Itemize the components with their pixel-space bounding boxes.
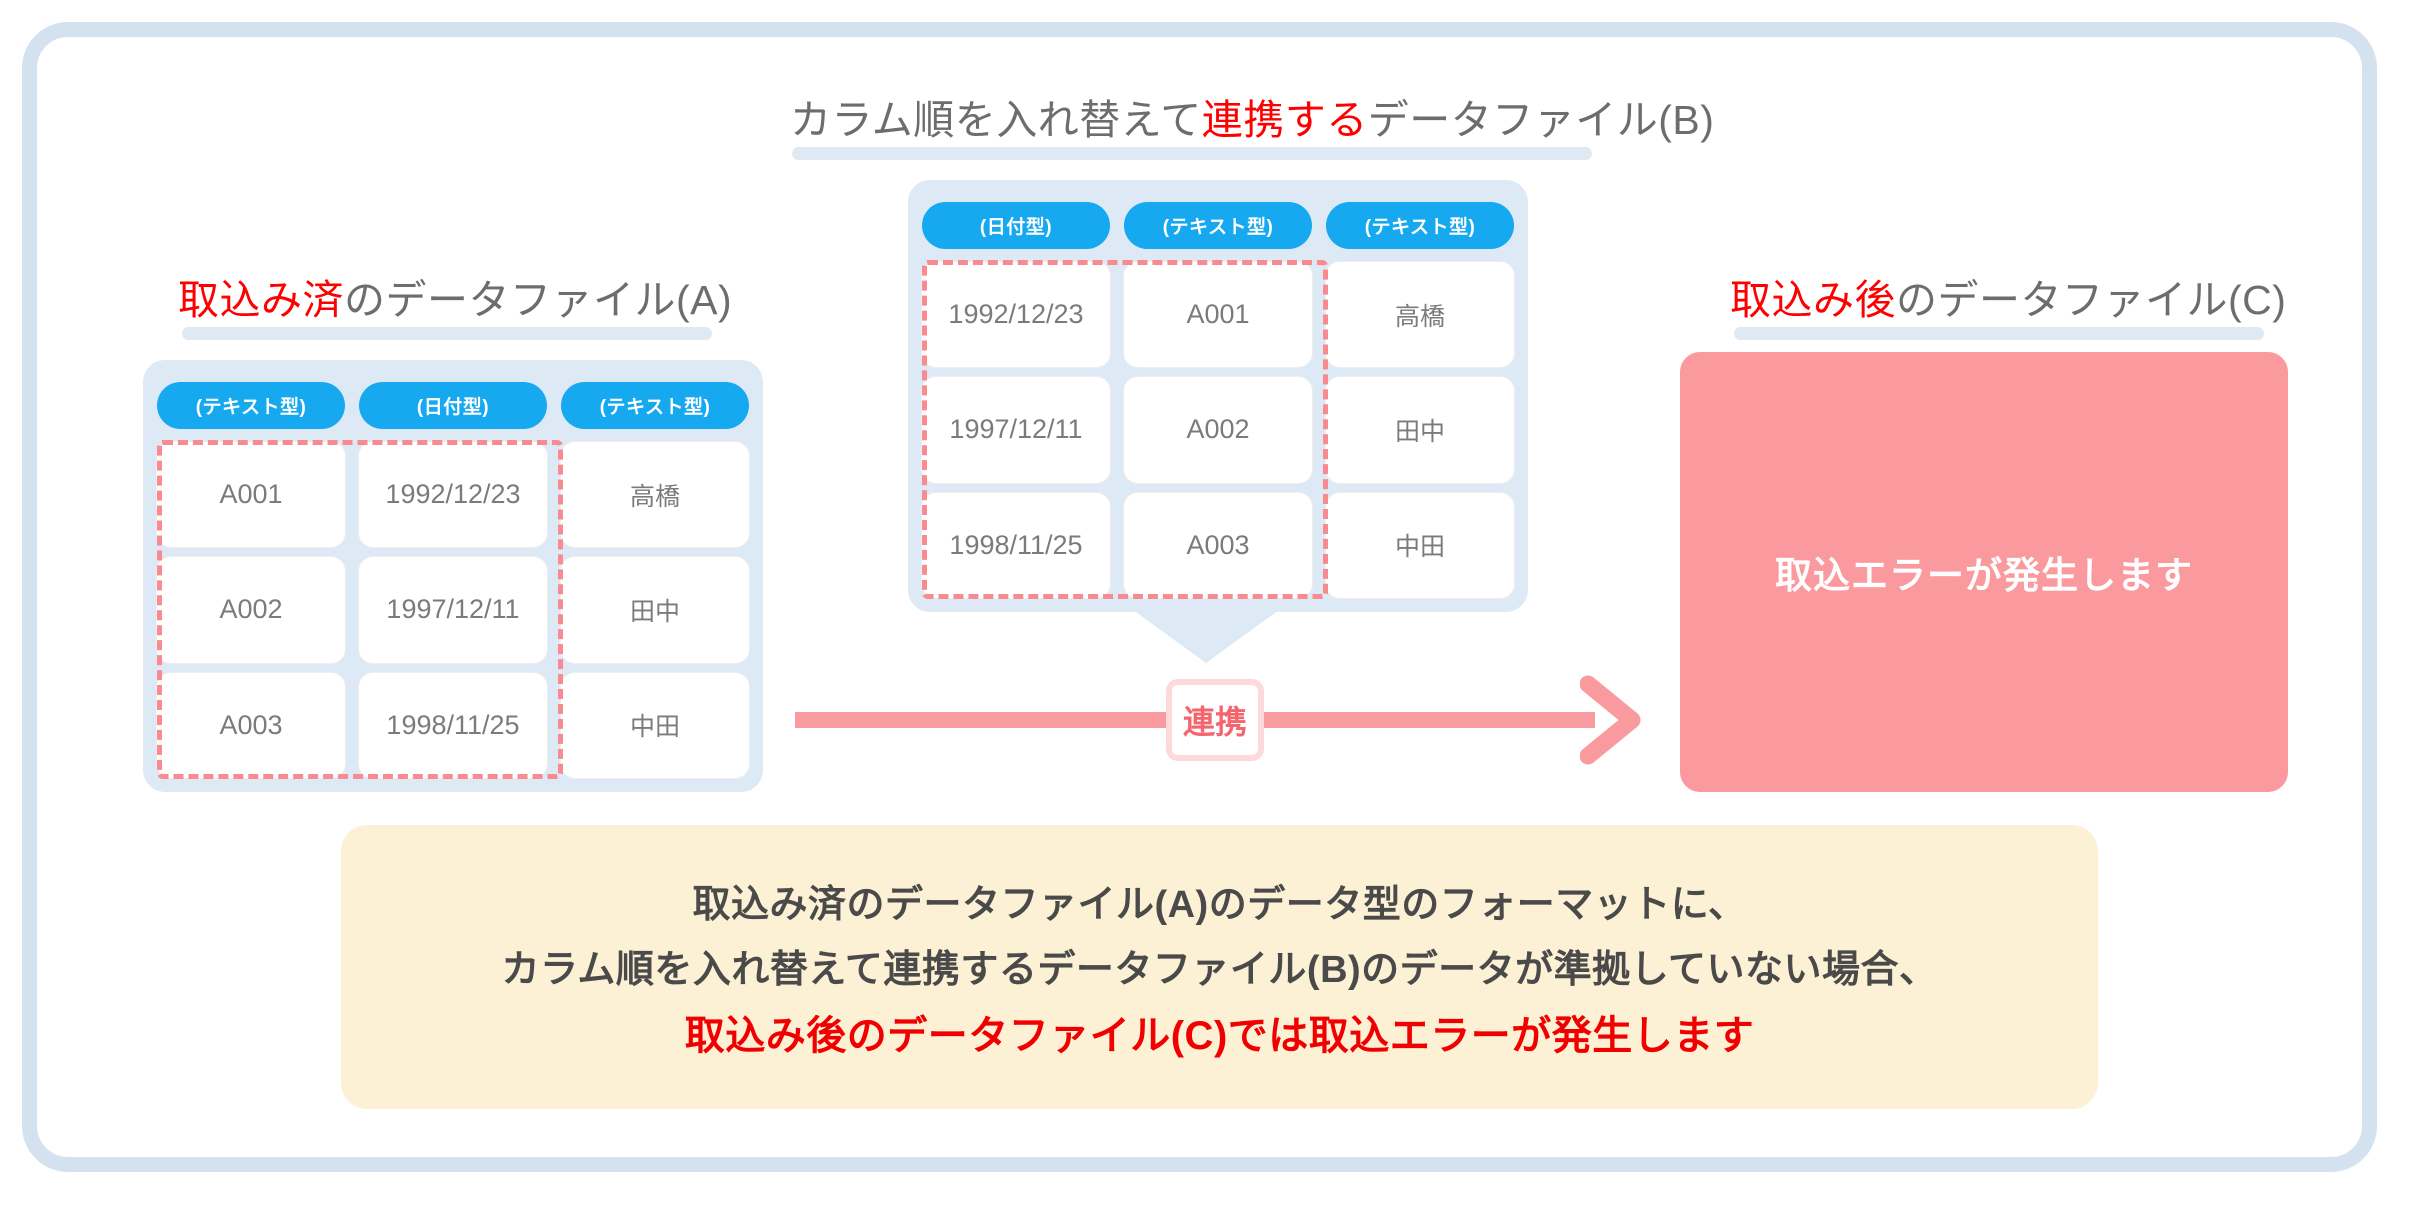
table-cell: 1992/12/23 xyxy=(922,262,1110,367)
table-cell: A003 xyxy=(157,673,345,778)
table-row: 1997/12/11 A002 田中 xyxy=(922,377,1514,482)
column-type-badge: (テキスト型) xyxy=(561,382,749,429)
table-cell: A001 xyxy=(1124,262,1312,367)
table-cell: 高橋 xyxy=(1326,262,1514,367)
table-a-header-row: (テキスト型) (日付型) (テキスト型) xyxy=(157,382,749,429)
title-underline-b xyxy=(792,147,1592,160)
table-row: A003 1998/11/25 中田 xyxy=(157,673,749,778)
title-file-b-lead: カラム順を入れ替えて xyxy=(790,97,1202,143)
column-type-badge: (テキスト型) xyxy=(157,382,345,429)
table-cell: 中田 xyxy=(561,673,749,778)
table-cell: 1998/11/25 xyxy=(922,493,1110,598)
note-line-1: 取込み済のデータファイル(A)のデータ型のフォーマットに、 xyxy=(692,873,1746,928)
note-line-2: カラム順を入れ替えて連携するデータファイル(B)のデータが準拠していない場合、 xyxy=(501,938,1937,993)
title-file-c-prefix: 取込み後 xyxy=(1730,277,1896,323)
import-error-text: 取込エラーが発生します xyxy=(1775,545,2193,599)
table-cell: 1997/12/11 xyxy=(359,557,547,662)
table-cell: A002 xyxy=(1124,377,1312,482)
import-error-result-box: 取込エラーが発生します xyxy=(1680,352,2288,792)
explanation-note-box: 取込み済のデータファイル(A)のデータ型のフォーマットに、 カラム順を入れ替えて… xyxy=(341,825,2098,1109)
title-file-a-suffix: のデータファイル(A) xyxy=(344,277,732,323)
table-cell: 田中 xyxy=(561,557,749,662)
flow-arrow-label: 連携 xyxy=(1166,679,1264,761)
note-line-3: 取込み後のデータファイル(C)では取込エラーが発生します xyxy=(685,1003,1755,1061)
table-b-grid: 1992/12/23 A001 高橋 1997/12/11 A002 田中 19… xyxy=(922,262,1514,598)
title-file-b-suffix: データファイル(B) xyxy=(1368,97,1715,143)
table-cell: A002 xyxy=(157,557,345,662)
table-row: 1998/11/25 A003 中田 xyxy=(922,493,1514,598)
column-type-badge: (日付型) xyxy=(359,382,547,429)
data-file-a-panel: (テキスト型) (日付型) (テキスト型) A001 1992/12/23 高橋… xyxy=(143,360,763,792)
table-a-grid: A001 1992/12/23 高橋 A002 1997/12/11 田中 A0… xyxy=(157,442,749,778)
table-cell: 田中 xyxy=(1326,377,1514,482)
down-arrow-icon xyxy=(1133,610,1279,663)
title-file-b: カラム順を入れ替えて連携するデータファイル(B) xyxy=(790,86,1714,146)
table-cell: 1992/12/23 xyxy=(359,442,547,547)
flow-arrow-head-icon xyxy=(1580,672,1676,768)
table-row: A002 1997/12/11 田中 xyxy=(157,557,749,662)
table-b-header-row: (日付型) (テキスト型) (テキスト型) xyxy=(922,202,1514,249)
title-file-b-highlight: 連携する xyxy=(1202,97,1368,143)
table-cell: 1998/11/25 xyxy=(359,673,547,778)
title-file-a-prefix: 取込み済 xyxy=(178,277,344,323)
title-file-c: 取込み後のデータファイル(C) xyxy=(1730,266,2286,326)
data-file-b-panel: (日付型) (テキスト型) (テキスト型) 1992/12/23 A001 高橋… xyxy=(908,180,1528,612)
column-type-badge: (テキスト型) xyxy=(1124,202,1312,249)
title-file-a: 取込み済のデータファイル(A) xyxy=(178,266,732,326)
table-cell: 中田 xyxy=(1326,493,1514,598)
table-cell: A003 xyxy=(1124,493,1312,598)
table-cell: A001 xyxy=(157,442,345,547)
table-cell: 高橋 xyxy=(561,442,749,547)
title-file-c-suffix: のデータファイル(C) xyxy=(1896,277,2286,323)
title-underline-c xyxy=(1734,327,2264,340)
column-type-badge: (日付型) xyxy=(922,202,1110,249)
table-cell: 1997/12/11 xyxy=(922,377,1110,482)
column-type-badge: (テキスト型) xyxy=(1326,202,1514,249)
table-row: A001 1992/12/23 高橋 xyxy=(157,442,749,547)
table-row: 1992/12/23 A001 高橋 xyxy=(922,262,1514,367)
title-underline-a xyxy=(182,327,712,340)
